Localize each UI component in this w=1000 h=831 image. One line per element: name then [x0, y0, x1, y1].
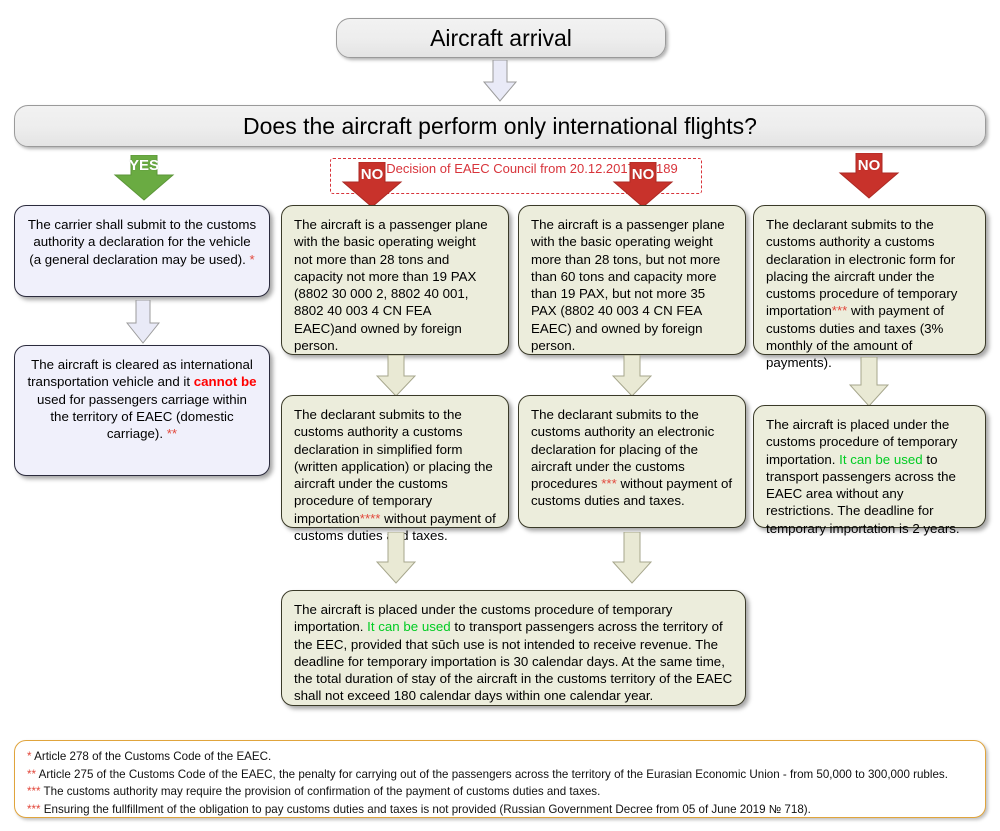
arrow-no-mid-step1-to-step2	[612, 355, 652, 397]
footnote-item: ** Article 275 of the Customs Code of th…	[27, 766, 973, 784]
node-no-right-step2: The aircraft is placed under the customs…	[753, 405, 986, 528]
node-no-left-step2-marker: ****	[360, 511, 381, 526]
footnote-text: Article 278 of the Customs Code of the E…	[32, 750, 272, 763]
arrow-branch-no-left	[341, 162, 403, 208]
node-yes-step1: The carrier shall submit to the customs …	[14, 205, 270, 297]
node-yes-step2-marker: **	[167, 426, 177, 441]
node-no-right-step1-marker: ***	[832, 303, 848, 318]
arrow-no-right-step1-to-step2	[849, 357, 889, 407]
node-no-mid-step2: The declarant submits to the customs aut…	[518, 395, 746, 528]
node-no-mid-step1-text: The aircraft is a passenger plane with t…	[531, 217, 725, 353]
footnote-item: *** Ensuring the fullfillment of the obl…	[27, 801, 973, 819]
footnote-text: The customs authority may require the pr…	[41, 785, 601, 798]
node-yes-step2: The aircraft is cleared as international…	[14, 345, 270, 476]
node-decision-question-label: Does the aircraft perform only internati…	[243, 113, 757, 140]
footnote-item: * Article 278 of the Customs Code of the…	[27, 748, 973, 766]
node-no-left-step1-text: The aircraft is a passenger plane with t…	[294, 217, 488, 353]
arrow-branch-no-mid	[612, 162, 674, 208]
arrow-no-left-step2-to-summary	[376, 532, 416, 584]
node-yes-step1-marker: *	[250, 252, 255, 267]
node-no-left-step2: The declarant submits to the customs aut…	[281, 395, 509, 528]
arrow-branch-yes	[113, 155, 175, 201]
node-no-mid-step1: The aircraft is a passenger plane with t…	[518, 205, 746, 355]
footnote-marker: ***	[27, 803, 41, 816]
arrow-branch-no-right	[838, 153, 900, 199]
node-yes-step2-text-2: used for passengers carriage within the …	[37, 392, 247, 442]
node-aircraft-arrival: Aircraft arrival	[336, 18, 666, 58]
node-no-right-step1: The declarant submits to the customs aut…	[753, 205, 986, 355]
node-summary: The aircraft is placed under the customs…	[281, 590, 746, 706]
arrow-yes-step1-to-step2	[126, 300, 160, 344]
node-yes-step1-text: The carrier shall submit to the customs …	[28, 217, 256, 267]
footnote-marker: ***	[27, 785, 41, 798]
footnotes-panel: * Article 278 of the Customs Code of the…	[14, 740, 986, 818]
arrow-no-left-step1-to-step2	[376, 355, 416, 397]
node-no-left-step2-text-1: The declarant submits to the customs aut…	[294, 407, 493, 526]
node-summary-emphasis: It can be used	[367, 619, 451, 634]
footnote-marker: **	[27, 768, 36, 781]
node-no-right-step2-emphasis: It can be used	[839, 452, 923, 467]
node-decision-question: Does the aircraft perform only internati…	[14, 105, 986, 147]
node-no-left-step1: The aircraft is a passenger plane with t…	[281, 205, 509, 355]
node-no-mid-step2-marker: ***	[601, 476, 617, 491]
arrow-title-to-question	[483, 60, 517, 102]
footnote-text: Article 275 of the Customs Code of the E…	[36, 768, 948, 781]
node-yes-step2-emphasis: cannot be	[194, 374, 257, 389]
footnote-text: Ensuring the fullfillment of the obligat…	[41, 803, 811, 816]
arrow-no-mid-step2-to-summary	[612, 532, 652, 584]
node-aircraft-arrival-label: Aircraft arrival	[430, 25, 572, 52]
flowchart-canvas: Aircraft arrival Does the aircraft perfo…	[0, 0, 1000, 831]
footnote-item: *** The customs authority may require th…	[27, 783, 973, 801]
